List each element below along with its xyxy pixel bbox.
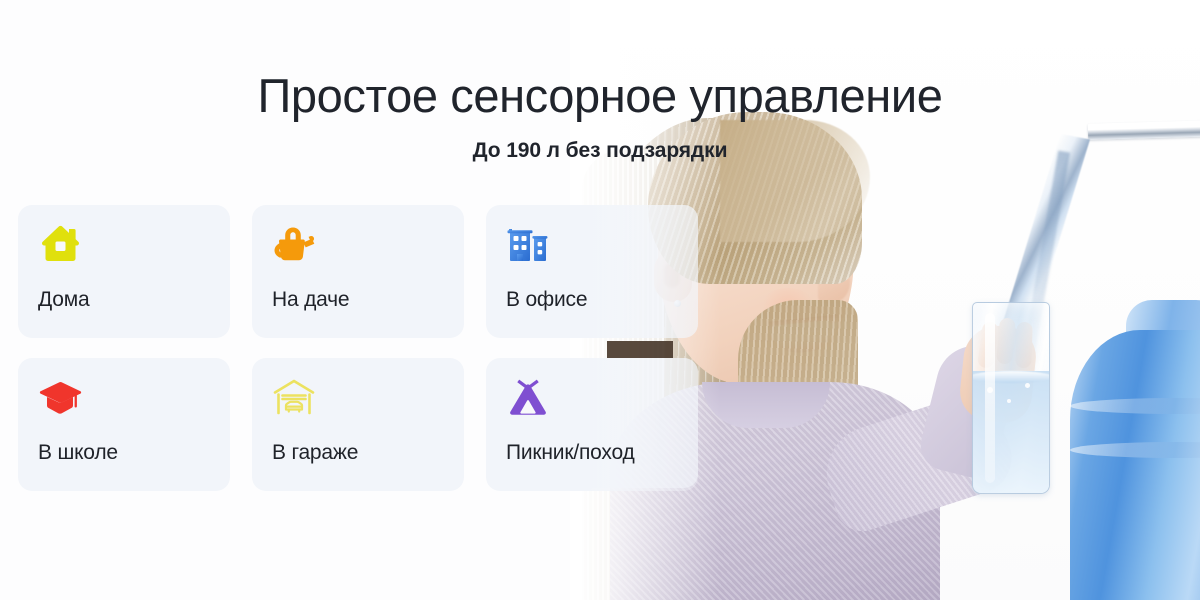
- card-office[interactable]: В офисе: [486, 205, 698, 338]
- card-dacha[interactable]: На даче: [252, 205, 464, 338]
- card-garage[interactable]: В гараже: [252, 358, 464, 491]
- card-label: На даче: [272, 288, 349, 312]
- drinking-glass: [972, 302, 1050, 494]
- card-label: В офисе: [506, 288, 587, 312]
- bubble: [1007, 399, 1011, 403]
- water-tap-spout-icon: [1088, 120, 1200, 140]
- office-buildings-icon: [506, 223, 550, 265]
- card-picnic[interactable]: Пикник/поход: [486, 358, 698, 491]
- graduation-cap-icon: [38, 376, 82, 418]
- card-label: В школе: [38, 441, 118, 465]
- garage-car-icon: [272, 376, 316, 418]
- card-label: Дома: [38, 288, 89, 312]
- card-home[interactable]: Дома: [18, 205, 230, 338]
- bubble: [1025, 383, 1030, 388]
- watering-can-icon: [272, 223, 316, 265]
- card-school[interactable]: В школе: [18, 358, 230, 491]
- water-surface: [972, 371, 1050, 383]
- tent-icon: [506, 376, 550, 418]
- card-label: Пикник/поход: [506, 441, 635, 465]
- house-icon: [38, 223, 82, 265]
- card-label: В гараже: [272, 441, 358, 465]
- blue-water-bottle: [1070, 330, 1200, 600]
- use-case-card-grid: Дома На даче: [18, 205, 718, 491]
- hair-fringe: [720, 120, 870, 242]
- glass-highlight: [985, 313, 995, 483]
- promo-page: Простое сенсорное управление До 190 л бе…: [0, 0, 1200, 600]
